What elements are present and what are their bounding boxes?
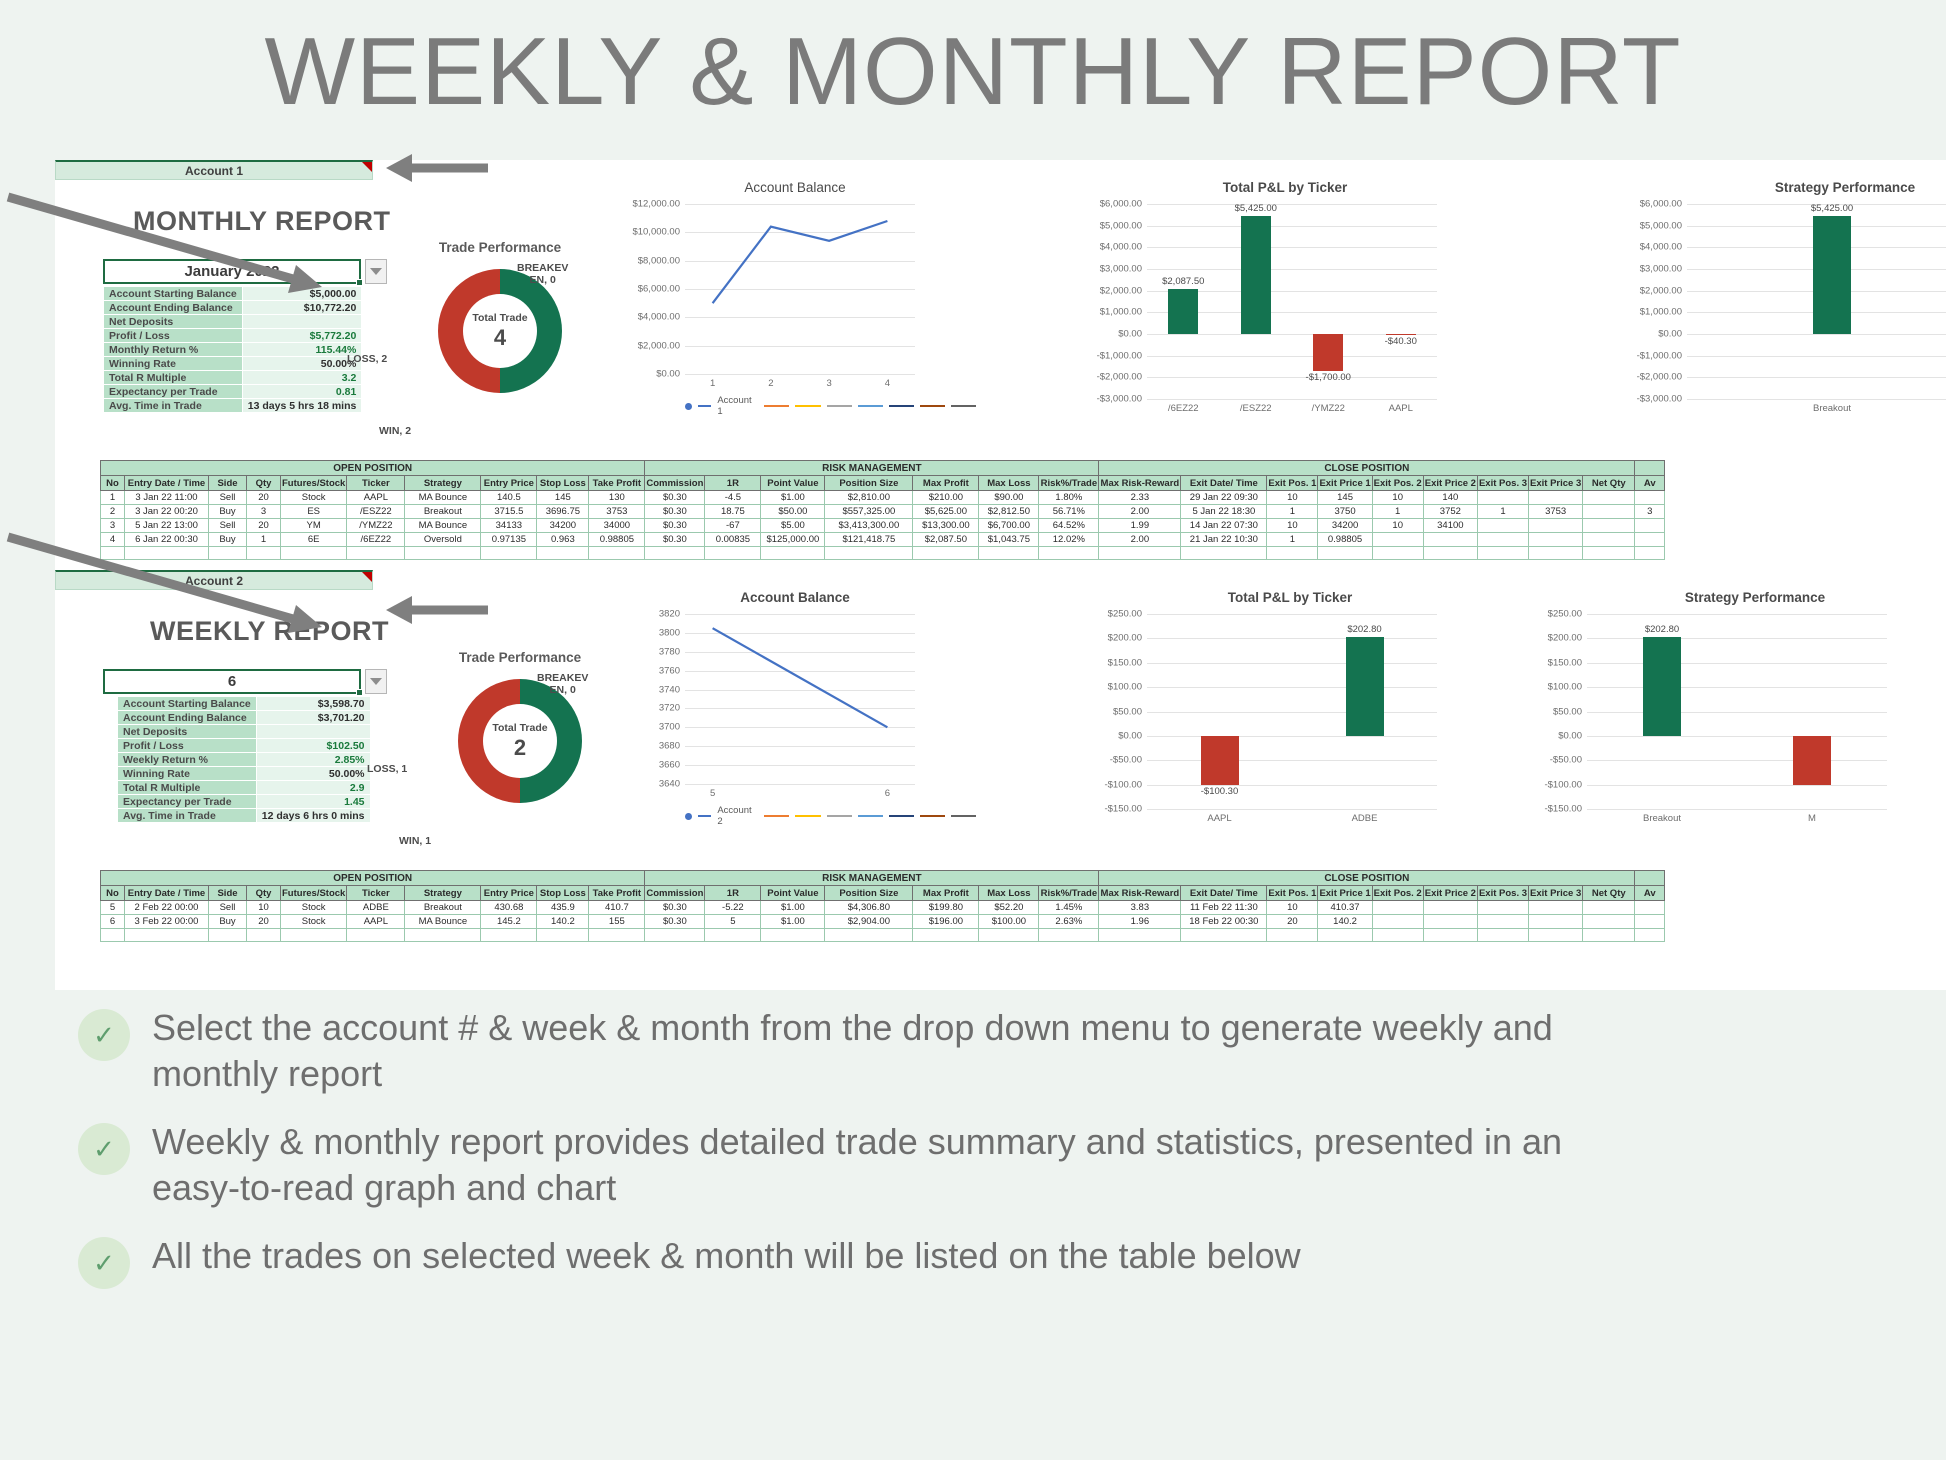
table-cell[interactable]: $0.30 bbox=[645, 491, 705, 505]
table-cell[interactable]: $1,043.75 bbox=[979, 533, 1039, 547]
table-cell[interactable]: 10 bbox=[247, 901, 281, 915]
table-cell[interactable]: 1 bbox=[247, 533, 281, 547]
table-cell[interactable] bbox=[1635, 519, 1665, 533]
table-cell[interactable] bbox=[1529, 491, 1583, 505]
table-cell[interactable]: 1.99 bbox=[1099, 519, 1181, 533]
table-cell[interactable]: $0.30 bbox=[645, 519, 705, 533]
table-cell[interactable] bbox=[1529, 533, 1583, 547]
table-cell[interactable]: 5 bbox=[101, 901, 125, 915]
table-cell[interactable]: 12.02% bbox=[1039, 533, 1099, 547]
table-cell[interactable]: $5,625.00 bbox=[913, 505, 979, 519]
table-cell[interactable]: 1.96 bbox=[1099, 915, 1181, 929]
column-header[interactable]: 1R bbox=[705, 886, 761, 901]
table-cell[interactable]: 410.37 bbox=[1318, 901, 1372, 915]
column-header[interactable]: Futures/Stock bbox=[281, 886, 347, 901]
table-cell[interactable] bbox=[1181, 547, 1267, 560]
table-cell[interactable] bbox=[1529, 901, 1583, 915]
table-cell[interactable]: $52.20 bbox=[979, 901, 1039, 915]
table-cell[interactable] bbox=[247, 929, 281, 942]
table-cell[interactable] bbox=[1529, 547, 1583, 560]
table-cell[interactable] bbox=[1635, 533, 1665, 547]
table-cell[interactable]: 3750 bbox=[1318, 505, 1372, 519]
table-cell[interactable]: Stock bbox=[281, 491, 347, 505]
monthly-period-select[interactable]: January 2022 bbox=[103, 259, 361, 284]
gridline bbox=[1587, 809, 1887, 810]
table-cell[interactable]: $196.00 bbox=[913, 915, 979, 929]
column-header[interactable]: Exit Price 2 bbox=[1423, 886, 1477, 901]
table-cell[interactable]: $90.00 bbox=[979, 491, 1039, 505]
account-tab-2[interactable]: Account 2 bbox=[55, 570, 373, 590]
table-cell[interactable]: 5 Jan 22 13:00 bbox=[125, 519, 209, 533]
table-cell[interactable] bbox=[1372, 547, 1423, 560]
column-header[interactable]: No bbox=[101, 886, 125, 901]
table-row[interactable]: 35 Jan 22 13:00Sell20YM/YMZ22MA Bounce34… bbox=[101, 519, 1665, 533]
column-header[interactable]: Stop Loss bbox=[537, 886, 589, 901]
table-cell[interactable]: MA Bounce bbox=[405, 915, 481, 929]
bar bbox=[1643, 637, 1681, 736]
table-cell[interactable]: Stock bbox=[281, 915, 347, 929]
table-cell[interactable]: 3696.75 bbox=[537, 505, 589, 519]
table-cell[interactable] bbox=[645, 547, 705, 560]
table-cell[interactable]: 2.33 bbox=[1099, 491, 1181, 505]
table-cell[interactable]: Stock bbox=[281, 901, 347, 915]
monthly-trade-performance-donut: Trade Performance Total Trade 4 BREAKEV … bbox=[395, 240, 605, 393]
weekly-period-dropdown-button[interactable] bbox=[365, 669, 387, 694]
table-cell[interactable]: 155 bbox=[589, 915, 645, 929]
table-cell[interactable]: 10 bbox=[1267, 491, 1318, 505]
table-cell[interactable]: 140.2 bbox=[537, 915, 589, 929]
column-header[interactable]: Exit Pos. 3 bbox=[1477, 886, 1528, 901]
column-header[interactable]: Entry Price bbox=[481, 476, 537, 491]
table-cell[interactable] bbox=[825, 929, 913, 942]
column-header[interactable]: Exit Date/ Time bbox=[1181, 886, 1267, 901]
table-cell[interactable]: 435.9 bbox=[537, 901, 589, 915]
table-cell[interactable]: 1.45% bbox=[1039, 901, 1099, 915]
table-cell[interactable]: -5.22 bbox=[705, 901, 761, 915]
table-cell[interactable]: 20 bbox=[247, 915, 281, 929]
table-cell[interactable] bbox=[1423, 929, 1477, 942]
column-header[interactable]: Exit Pos. 3 bbox=[1477, 476, 1528, 491]
table-cell[interactable]: 3753 bbox=[1529, 505, 1583, 519]
column-header[interactable]: Entry Date / Time bbox=[125, 476, 209, 491]
column-header[interactable]: Exit Price 1 bbox=[1318, 476, 1372, 491]
column-header[interactable]: Qty bbox=[247, 886, 281, 901]
column-header[interactable]: Exit Price 3 bbox=[1529, 886, 1583, 901]
table-cell[interactable] bbox=[101, 547, 125, 560]
column-header[interactable]: Risk%/Trade bbox=[1039, 476, 1099, 491]
table-cell[interactable]: 3 bbox=[1635, 505, 1665, 519]
table-cell[interactable]: 34000 bbox=[589, 519, 645, 533]
table-cell[interactable]: 5 Jan 22 18:30 bbox=[1181, 505, 1267, 519]
table-cell[interactable]: 6 bbox=[101, 915, 125, 929]
table-cell[interactable]: 2.00 bbox=[1099, 533, 1181, 547]
table-cell[interactable]: MA Bounce bbox=[405, 519, 481, 533]
table-cell[interactable]: $0.30 bbox=[645, 901, 705, 915]
column-header[interactable]: Max Profit bbox=[913, 476, 979, 491]
column-header[interactable]: Entry Price bbox=[481, 886, 537, 901]
table-cell[interactable]: 2.63% bbox=[1039, 915, 1099, 929]
table-cell[interactable] bbox=[1583, 491, 1635, 505]
table-cell[interactable] bbox=[1372, 929, 1423, 942]
table-cell[interactable]: AAPL bbox=[347, 491, 405, 505]
table-cell[interactable]: $2,810.00 bbox=[825, 491, 913, 505]
column-header[interactable]: Side bbox=[209, 476, 247, 491]
bar-value-label: -$100.30 bbox=[1201, 786, 1239, 797]
table-cell[interactable] bbox=[1477, 547, 1528, 560]
column-header[interactable]: Ticker bbox=[347, 886, 405, 901]
table-cell[interactable] bbox=[1477, 929, 1528, 942]
table-cell[interactable]: 2 bbox=[101, 505, 125, 519]
table-cell[interactable]: 18 Feb 22 00:30 bbox=[1181, 915, 1267, 929]
table-cell[interactable] bbox=[1267, 547, 1318, 560]
gridline bbox=[1147, 760, 1437, 761]
column-header[interactable]: Risk%/Trade bbox=[1039, 886, 1099, 901]
table-cell[interactable]: 14 Jan 22 07:30 bbox=[1181, 519, 1267, 533]
table-cell[interactable] bbox=[1635, 929, 1665, 942]
table-cell[interactable]: 20 bbox=[247, 491, 281, 505]
table-cell[interactable] bbox=[1318, 929, 1372, 942]
table-cell[interactable]: 10 bbox=[1267, 519, 1318, 533]
table-cell[interactable] bbox=[1039, 547, 1099, 560]
table-cell[interactable] bbox=[281, 929, 347, 942]
table-cell[interactable]: 6E bbox=[281, 533, 347, 547]
table-cell[interactable] bbox=[1423, 915, 1477, 929]
table-cell[interactable]: YM bbox=[281, 519, 347, 533]
table-cell[interactable] bbox=[125, 929, 209, 942]
table-cell[interactable] bbox=[481, 929, 537, 942]
table-cell[interactable]: AAPL bbox=[347, 915, 405, 929]
table-row[interactable]: 13 Jan 22 11:00Sell20StockAAPLMA Bounce1… bbox=[101, 491, 1665, 505]
table-cell[interactable]: 3.83 bbox=[1099, 901, 1181, 915]
table-cell[interactable]: ADBE bbox=[347, 901, 405, 915]
column-header[interactable]: Take Profit bbox=[589, 476, 645, 491]
table-cell[interactable]: 140.2 bbox=[1318, 915, 1372, 929]
table-cell[interactable]: 56.71% bbox=[1039, 505, 1099, 519]
table-cell[interactable]: 6 Jan 22 00:30 bbox=[125, 533, 209, 547]
table-cell[interactable]: Breakout bbox=[405, 901, 481, 915]
table-cell[interactable]: 0.98805 bbox=[1318, 533, 1372, 547]
fill-handle[interactable] bbox=[356, 279, 363, 286]
table-cell[interactable] bbox=[537, 547, 589, 560]
column-header[interactable]: Entry Date / Time bbox=[125, 886, 209, 901]
table-cell[interactable] bbox=[1583, 929, 1635, 942]
column-header[interactable]: Stop Loss bbox=[537, 476, 589, 491]
table-cell[interactable]: 145 bbox=[537, 491, 589, 505]
table-cell[interactable]: $125,000.00 bbox=[761, 533, 825, 547]
column-header[interactable]: No bbox=[101, 476, 125, 491]
stat-label: Total R Multiple bbox=[118, 781, 257, 795]
column-header[interactable]: Max Risk-Reward bbox=[1099, 886, 1181, 901]
table-cell[interactable]: 64.52% bbox=[1039, 519, 1099, 533]
table-cell[interactable]: $50.00 bbox=[761, 505, 825, 519]
y-axis-tick: $250.00 bbox=[1548, 609, 1582, 620]
table-cell[interactable]: $6,700.00 bbox=[979, 519, 1039, 533]
fill-handle[interactable] bbox=[356, 689, 363, 696]
table-cell[interactable]: 20 bbox=[1267, 915, 1318, 929]
column-header[interactable]: Av bbox=[1635, 476, 1665, 491]
table-cell[interactable]: $199.80 bbox=[913, 901, 979, 915]
table-cell[interactable]: Sell bbox=[209, 491, 247, 505]
table-cell[interactable] bbox=[1529, 519, 1583, 533]
table-cell[interactable]: $121,418.75 bbox=[825, 533, 913, 547]
stat-label: Account Ending Balance bbox=[118, 711, 257, 725]
table-cell[interactable] bbox=[209, 547, 247, 560]
table-cell[interactable]: $100.00 bbox=[979, 915, 1039, 929]
table-cell[interactable]: 20 bbox=[247, 519, 281, 533]
column-header[interactable]: Exit Pos. 2 bbox=[1372, 476, 1423, 491]
column-header[interactable]: Exit Pos. 2 bbox=[1372, 886, 1423, 901]
monthly-period-dropdown-button[interactable] bbox=[365, 259, 387, 284]
table-cell[interactable] bbox=[1267, 929, 1318, 942]
table-cell[interactable] bbox=[1477, 491, 1528, 505]
table-cell[interactable] bbox=[347, 547, 405, 560]
table-cell[interactable] bbox=[101, 929, 125, 942]
column-header[interactable]: Strategy bbox=[405, 886, 481, 901]
table-cell[interactable]: 34200 bbox=[537, 519, 589, 533]
table-cell[interactable]: 0.98805 bbox=[589, 533, 645, 547]
table-cell[interactable]: 1 bbox=[1372, 505, 1423, 519]
table-cell[interactable]: 3 Feb 22 00:00 bbox=[125, 915, 209, 929]
table-cell[interactable]: 1.80% bbox=[1039, 491, 1099, 505]
table-cell[interactable]: $210.00 bbox=[913, 491, 979, 505]
table-cell[interactable]: 10 bbox=[1267, 901, 1318, 915]
column-header[interactable]: Exit Price 2 bbox=[1423, 476, 1477, 491]
table-cell[interactable]: 10 bbox=[1372, 491, 1423, 505]
table-cell[interactable]: 34100 bbox=[1423, 519, 1477, 533]
table-cell[interactable] bbox=[1635, 915, 1665, 929]
column-header[interactable]: Position Size bbox=[825, 886, 913, 901]
table-cell[interactable]: 2.00 bbox=[1099, 505, 1181, 519]
table-cell[interactable]: 145 bbox=[1318, 491, 1372, 505]
column-header[interactable]: Max Profit bbox=[913, 886, 979, 901]
table-cell[interactable]: $0.30 bbox=[645, 505, 705, 519]
column-header[interactable]: Qty bbox=[247, 476, 281, 491]
column-header[interactable]: 1R bbox=[705, 476, 761, 491]
table-cell[interactable]: 1 bbox=[1477, 505, 1528, 519]
table-cell[interactable] bbox=[1423, 533, 1477, 547]
table-cell[interactable] bbox=[209, 929, 247, 942]
column-header[interactable]: Point Value bbox=[761, 886, 825, 901]
table-cell[interactable] bbox=[405, 547, 481, 560]
table-cell[interactable]: 3 Jan 22 00:20 bbox=[125, 505, 209, 519]
table-cell[interactable]: Buy bbox=[209, 505, 247, 519]
table-cell[interactable] bbox=[1099, 929, 1181, 942]
table-cell[interactable] bbox=[1477, 519, 1528, 533]
table-cell[interactable] bbox=[1423, 547, 1477, 560]
table-cell[interactable]: 0.97135 bbox=[481, 533, 537, 547]
table-row[interactable]: 52 Feb 22 00:00Sell10StockADBEBreakout43… bbox=[101, 901, 1665, 915]
table-cell[interactable] bbox=[979, 929, 1039, 942]
table-cell[interactable] bbox=[705, 547, 761, 560]
y-axis-tick: 3640 bbox=[659, 779, 680, 790]
table-cell[interactable]: $2,812.50 bbox=[979, 505, 1039, 519]
table-cell[interactable] bbox=[1583, 505, 1635, 519]
table-cell[interactable]: 140.5 bbox=[481, 491, 537, 505]
table-cell[interactable]: 0.00835 bbox=[705, 533, 761, 547]
table-cell[interactable]: $1.00 bbox=[761, 901, 825, 915]
table-row[interactable] bbox=[101, 929, 1665, 942]
table-cell[interactable]: 0.963 bbox=[537, 533, 589, 547]
table-cell[interactable]: $1.00 bbox=[761, 915, 825, 929]
table-cell[interactable] bbox=[1372, 915, 1423, 929]
column-header[interactable]: Side bbox=[209, 886, 247, 901]
table-cell[interactable] bbox=[1529, 929, 1583, 942]
table-cell[interactable] bbox=[1477, 915, 1528, 929]
table-cell[interactable]: 130 bbox=[589, 491, 645, 505]
table-cell[interactable]: $1.00 bbox=[761, 491, 825, 505]
table-cell[interactable]: 3 bbox=[247, 505, 281, 519]
table-cell[interactable] bbox=[1583, 519, 1635, 533]
table-cell[interactable]: 3715.5 bbox=[481, 505, 537, 519]
table-cell[interactable] bbox=[125, 547, 209, 560]
table-cell[interactable]: 4 bbox=[101, 533, 125, 547]
table-cell[interactable]: -67 bbox=[705, 519, 761, 533]
table-cell[interactable] bbox=[1583, 547, 1635, 560]
table-cell[interactable]: $0.30 bbox=[645, 915, 705, 929]
column-header[interactable]: Commission bbox=[645, 886, 705, 901]
table-cell[interactable]: $557,325.00 bbox=[825, 505, 913, 519]
table-cell[interactable]: 2 Feb 22 00:00 bbox=[125, 901, 209, 915]
table-cell[interactable] bbox=[1318, 547, 1372, 560]
column-header[interactable]: Point Value bbox=[761, 476, 825, 491]
table-cell[interactable]: 34200 bbox=[1318, 519, 1372, 533]
table-row[interactable]: 63 Feb 22 00:00Buy20StockAAPLMA Bounce14… bbox=[101, 915, 1665, 929]
table-cell[interactable] bbox=[645, 929, 705, 942]
table-cell[interactable] bbox=[589, 547, 645, 560]
table-cell[interactable]: 5 bbox=[705, 915, 761, 929]
table-cell[interactable]: 3752 bbox=[1423, 505, 1477, 519]
column-header[interactable]: Position Size bbox=[825, 476, 913, 491]
cell-comment-marker-icon bbox=[362, 572, 372, 582]
column-header[interactable]: Commission bbox=[645, 476, 705, 491]
table-cell[interactable] bbox=[1635, 547, 1665, 560]
table-cell[interactable]: 1 bbox=[101, 491, 125, 505]
table-cell[interactable]: $13,300.00 bbox=[913, 519, 979, 533]
table-cell[interactable] bbox=[405, 929, 481, 942]
table-cell[interactable] bbox=[913, 547, 979, 560]
table-cell[interactable]: /ESZ22 bbox=[347, 505, 405, 519]
table-cell[interactable] bbox=[1181, 929, 1267, 942]
table-cell[interactable]: Buy bbox=[209, 533, 247, 547]
table-cell[interactable] bbox=[979, 547, 1039, 560]
column-header[interactable]: Take Profit bbox=[589, 886, 645, 901]
table-cell[interactable]: /YMZ22 bbox=[347, 519, 405, 533]
column-header[interactable]: Exit Price 3 bbox=[1529, 476, 1583, 491]
column-header[interactable]: Ticker bbox=[347, 476, 405, 491]
weekly-period-select[interactable]: 6 bbox=[103, 669, 361, 694]
table-cell[interactable]: MA Bounce bbox=[405, 491, 481, 505]
column-header[interactable]: Futures/Stock bbox=[281, 476, 347, 491]
table-cell[interactable]: $3,413,300.00 bbox=[825, 519, 913, 533]
column-header[interactable]: Exit Date/ Time bbox=[1181, 476, 1267, 491]
table-row[interactable] bbox=[101, 547, 1665, 560]
table-cell[interactable]: ES bbox=[281, 505, 347, 519]
table-cell[interactable]: Oversold bbox=[405, 533, 481, 547]
table-cell[interactable] bbox=[1372, 901, 1423, 915]
bar bbox=[1793, 736, 1831, 785]
column-header[interactable]: Exit Pos. 1 bbox=[1267, 886, 1318, 901]
table-row[interactable]: 23 Jan 22 00:20Buy3ES/ESZ22Breakout3715.… bbox=[101, 505, 1665, 519]
account-tab-1[interactable]: Account 1 bbox=[55, 160, 373, 180]
table-cell[interactable]: 3753 bbox=[589, 505, 645, 519]
table-cell[interactable]: 3 bbox=[101, 519, 125, 533]
table-cell[interactable] bbox=[281, 547, 347, 560]
y-axis-tick: 3700 bbox=[659, 722, 680, 733]
table-cell[interactable]: 29 Jan 22 09:30 bbox=[1181, 491, 1267, 505]
column-header[interactable]: Max Loss bbox=[979, 476, 1039, 491]
table-cell[interactable] bbox=[1372, 533, 1423, 547]
table-cell[interactable] bbox=[537, 929, 589, 942]
table-cell[interactable] bbox=[1583, 901, 1635, 915]
column-header[interactable]: Strategy bbox=[405, 476, 481, 491]
table-cell[interactable] bbox=[589, 929, 645, 942]
column-header[interactable]: Exit Price 1 bbox=[1318, 886, 1372, 901]
table-cell[interactable]: 1 bbox=[1267, 533, 1318, 547]
table-cell[interactable] bbox=[1099, 547, 1181, 560]
table-cell[interactable]: Sell bbox=[209, 901, 247, 915]
table-cell[interactable]: $4,306.80 bbox=[825, 901, 913, 915]
table-cell[interactable]: 11 Feb 22 11:30 bbox=[1181, 901, 1267, 915]
column-header[interactable]: Net Qty bbox=[1583, 476, 1635, 491]
column-header[interactable]: Max Loss bbox=[979, 886, 1039, 901]
table-row[interactable]: 46 Jan 22 00:30Buy16E/6EZ22Oversold0.971… bbox=[101, 533, 1665, 547]
table-cell[interactable]: $0.30 bbox=[645, 533, 705, 547]
table-cell[interactable]: Buy bbox=[209, 915, 247, 929]
table-cell[interactable] bbox=[481, 547, 537, 560]
table-cell[interactable]: 410.7 bbox=[589, 901, 645, 915]
column-header[interactable]: Max Risk-Reward bbox=[1099, 476, 1181, 491]
table-cell[interactable]: $2,904.00 bbox=[825, 915, 913, 929]
column-header[interactable]: Net Qty bbox=[1583, 886, 1635, 901]
table-cell[interactable]: -4.5 bbox=[705, 491, 761, 505]
table-cell[interactable]: /6EZ22 bbox=[347, 533, 405, 547]
table-cell[interactable] bbox=[1635, 491, 1665, 505]
table-cell[interactable]: 21 Jan 22 10:30 bbox=[1181, 533, 1267, 547]
table-cell[interactable]: 3 Jan 22 11:00 bbox=[125, 491, 209, 505]
table-cell[interactable] bbox=[247, 547, 281, 560]
table-cell[interactable] bbox=[1039, 929, 1099, 942]
table-cell[interactable] bbox=[347, 929, 405, 942]
table-cell[interactable] bbox=[1477, 901, 1528, 915]
table-cell[interactable] bbox=[761, 929, 825, 942]
column-header[interactable]: Exit Pos. 1 bbox=[1267, 476, 1318, 491]
table-cell[interactable]: 430.68 bbox=[481, 901, 537, 915]
table-cell[interactable]: Sell bbox=[209, 519, 247, 533]
table-cell[interactable] bbox=[1583, 915, 1635, 929]
table-cell[interactable]: 34133 bbox=[481, 519, 537, 533]
table-cell[interactable] bbox=[913, 929, 979, 942]
table-cell[interactable] bbox=[1583, 533, 1635, 547]
y-axis-tick: 3820 bbox=[659, 609, 680, 620]
table-cell[interactable] bbox=[1529, 915, 1583, 929]
column-header[interactable]: Av bbox=[1635, 886, 1665, 901]
table-cell[interactable] bbox=[761, 547, 825, 560]
table-cell[interactable] bbox=[1635, 901, 1665, 915]
table-cell[interactable]: 10 bbox=[1372, 519, 1423, 533]
table-cell[interactable] bbox=[705, 929, 761, 942]
table-cell[interactable]: $2,087.50 bbox=[913, 533, 979, 547]
table-cell[interactable]: $5.00 bbox=[761, 519, 825, 533]
table-cell[interactable] bbox=[825, 547, 913, 560]
table-cell[interactable]: 1 bbox=[1267, 505, 1318, 519]
table-cell[interactable]: 140 bbox=[1423, 491, 1477, 505]
table-cell[interactable]: 18.75 bbox=[705, 505, 761, 519]
table-cell[interactable]: Breakout bbox=[405, 505, 481, 519]
table-cell[interactable] bbox=[1423, 901, 1477, 915]
table-cell[interactable]: 145.2 bbox=[481, 915, 537, 929]
table-cell[interactable] bbox=[1477, 533, 1528, 547]
y-axis-tick: $4,000.00 bbox=[1640, 242, 1682, 253]
